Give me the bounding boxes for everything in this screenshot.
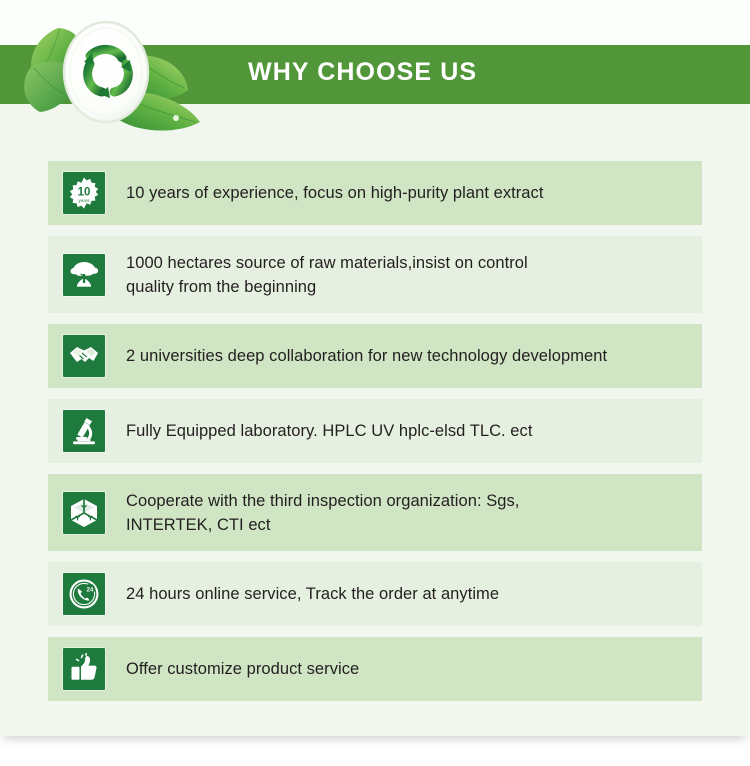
list-item-line: 1000 hectares source of raw materials,in… <box>126 254 528 272</box>
svg-text:10: 10 <box>78 187 91 199</box>
list-item[interactable]: Cooperate with the third inspection orga… <box>48 474 702 551</box>
handshake-icon <box>63 335 105 377</box>
ten-years-badge-icon: 10 years <box>63 172 105 214</box>
list-item-line: Fully Equipped laboratory. HPLC UV hplc-… <box>126 422 532 440</box>
list-item-text: 2 universities deep collaboration for ne… <box>126 344 607 368</box>
tree-icon <box>63 254 105 296</box>
list-item[interactable]: 24 24 hours online service, Track the or… <box>48 562 702 626</box>
thumbs-up-icon <box>63 648 105 690</box>
list-item-line: INTERTEK, CTI ect <box>126 513 519 537</box>
why-choose-us-banner: WHY CHOOSE US 10 years 10 years of exper… <box>0 0 750 766</box>
microscope-icon <box>63 410 105 452</box>
leaf-recycle-logo-icon <box>14 12 224 134</box>
list-item-line: quality from the beginning <box>126 275 528 299</box>
list-item[interactable]: Fully Equipped laboratory. HPLC UV hplc-… <box>48 399 702 463</box>
list-item-line: 10 years of experience, focus on high-pu… <box>126 184 543 202</box>
list-item[interactable]: Offer customize product service <box>48 637 702 701</box>
list-item-line: Offer customize product service <box>126 660 359 678</box>
page-title: WHY CHOOSE US <box>248 58 477 87</box>
list-item[interactable]: 1000 hectares source of raw materials,in… <box>48 236 702 313</box>
list-item-text: 1000 hectares source of raw materials,in… <box>126 251 528 299</box>
list-item-text: Offer customize product service <box>126 657 359 681</box>
list-item[interactable]: 10 years 10 years of experience, focus o… <box>48 161 702 225</box>
24-hour-phone-icon: 24 <box>63 573 105 615</box>
feature-list: 10 years 10 years of experience, focus o… <box>48 161 702 712</box>
list-item-line: 24 hours online service, Track the order… <box>126 585 499 603</box>
list-item-line: Cooperate with the third inspection orga… <box>126 492 519 510</box>
list-item-text: Cooperate with the third inspection orga… <box>126 489 519 537</box>
list-item-line: 2 universities deep collaboration for ne… <box>126 347 607 365</box>
list-item-text: Fully Equipped laboratory. HPLC UV hplc-… <box>126 419 532 443</box>
list-item[interactable]: 2 universities deep collaboration for ne… <box>48 324 702 388</box>
svg-text:24: 24 <box>87 587 94 593</box>
cube-certification-icon <box>63 492 105 534</box>
list-item-text: 10 years of experience, focus on high-pu… <box>126 181 543 205</box>
list-item-text: 24 hours online service, Track the order… <box>126 582 499 606</box>
svg-text:years: years <box>78 198 90 203</box>
